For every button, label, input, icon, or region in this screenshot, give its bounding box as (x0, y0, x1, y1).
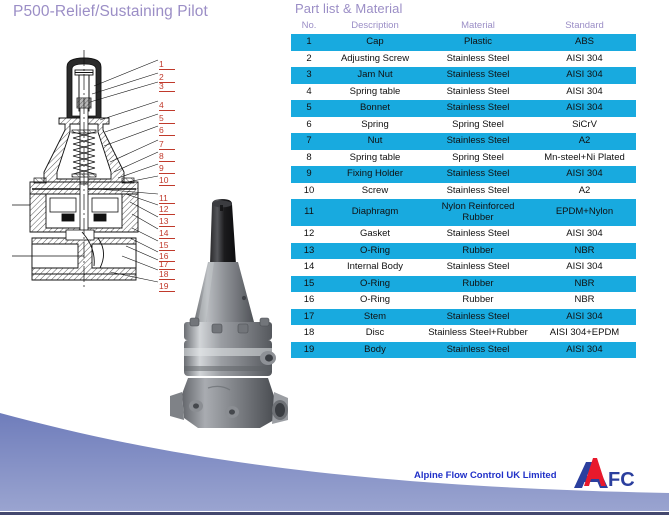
part-list-table: No. Description Material Standard 1CapPl… (291, 19, 636, 358)
part-material-cell: Stainless Steel (423, 67, 533, 84)
part-material-cell: Stainless Steel (423, 309, 533, 326)
part-standard-cell: AISI 304 (533, 342, 636, 359)
part-material-cell: Plastic (423, 34, 533, 51)
part-number-cell: 1 (291, 34, 327, 51)
table-row: 15O-RingRubberNBR (291, 276, 636, 293)
part-description-cell: O-Ring (327, 243, 423, 260)
part-description-cell: Disc (327, 325, 423, 342)
table-row: 12GasketStainless SteelAISI 304 (291, 226, 636, 243)
callout-number-10: 10 (159, 176, 175, 186)
part-number-cell: 10 (291, 183, 327, 200)
part-description-cell: Nut (327, 133, 423, 150)
part-standard-cell: AISI 304 (533, 84, 636, 101)
part-number-cell: 7 (291, 133, 327, 150)
part-description-cell: Internal Body (327, 259, 423, 276)
part-description-cell: Screw (327, 183, 423, 200)
table-row: 17StemStainless SteelAISI 304 (291, 309, 636, 326)
table-row: 4Spring tableStainless SteelAISI 304 (291, 84, 636, 101)
part-material-cell: Rubber (423, 292, 533, 309)
table-row: 11DiaphragmNylon Reinforced RubberEPDM+N… (291, 199, 636, 226)
table-row: 6SpringSpring SteelSiCrV (291, 117, 636, 134)
part-material-cell: Spring Steel (423, 117, 533, 134)
part-number-cell: 5 (291, 100, 327, 117)
part-material-cell: Stainless Steel+Rubber (423, 325, 533, 342)
part-list-body: 1CapPlasticABS2Adjusting ScrewStainless … (291, 34, 636, 358)
table-row: 19BodyStainless SteelAISI 304 (291, 342, 636, 359)
callout-number-8: 8 (159, 152, 175, 162)
column-header-standard: Standard (533, 19, 636, 34)
table-row: 9Fixing HolderStainless SteelAISI 304 (291, 166, 636, 183)
part-description-cell: Stem (327, 309, 423, 326)
table-row: 5BonnetStainless SteelAISI 304 (291, 100, 636, 117)
column-header-material: Material (423, 19, 533, 34)
part-description-cell: Adjusting Screw (327, 51, 423, 68)
table-row: 1CapPlasticABS (291, 34, 636, 51)
footer-company-name: Alpine Flow Control UK Limited (414, 470, 557, 481)
part-standard-cell: AISI 304 (533, 226, 636, 243)
pressure-relief-valve-photo (168, 196, 290, 444)
table-row: 14Internal BodyStainless SteelAISI 304 (291, 259, 636, 276)
part-standard-cell: EPDM+Nylon (533, 199, 636, 226)
part-description-cell: Bonnet (327, 100, 423, 117)
table-header-row: No. Description Material Standard (291, 19, 636, 34)
part-list-heading: Part list & Material (291, 0, 639, 19)
part-number-cell: 14 (291, 259, 327, 276)
part-standard-cell: NBR (533, 292, 636, 309)
part-standard-cell: A2 (533, 183, 636, 200)
part-material-cell: Stainless Steel (423, 259, 533, 276)
svg-text:FC: FC (608, 469, 634, 491)
part-number-cell: 2 (291, 51, 327, 68)
part-description-cell: O-Ring (327, 276, 423, 293)
part-standard-cell: ABS (533, 34, 636, 51)
part-number-cell: 6 (291, 117, 327, 134)
part-material-cell: Stainless Steel (423, 133, 533, 150)
part-material-cell: Stainless Steel (423, 51, 533, 68)
part-material-cell: Stainless Steel (423, 342, 533, 359)
part-material-cell: Stainless Steel (423, 183, 533, 200)
column-header-description: Description (327, 19, 423, 34)
part-material-cell: Rubber (423, 276, 533, 293)
part-number-cell: 16 (291, 292, 327, 309)
callout-number-7: 7 (159, 140, 175, 150)
table-row: 10ScrewStainless SteelA2 (291, 183, 636, 200)
part-standard-cell: SiCrV (533, 117, 636, 134)
part-number-cell: 11 (291, 199, 327, 226)
part-standard-cell: AISI 304 (533, 309, 636, 326)
part-material-cell: Spring Steel (423, 150, 533, 167)
part-material-cell: Nylon Reinforced Rubber (423, 199, 533, 226)
callout-number-3: 3 (159, 82, 175, 92)
callout-number-1: 1 (159, 60, 175, 70)
part-description-cell: Cap (327, 34, 423, 51)
column-header-no: No. (291, 19, 327, 34)
part-number-cell: 15 (291, 276, 327, 293)
part-number-cell: 18 (291, 325, 327, 342)
part-description-cell: Gasket (327, 226, 423, 243)
part-description-cell: Spring (327, 117, 423, 134)
part-number-cell: 3 (291, 67, 327, 84)
part-number-cell: 8 (291, 150, 327, 167)
callout-number-5: 5 (159, 114, 175, 124)
table-row: 18DiscStainless Steel+RubberAISI 304+EPD… (291, 325, 636, 342)
part-standard-cell: NBR (533, 243, 636, 260)
part-material-cell: Stainless Steel (423, 226, 533, 243)
part-number-cell: 17 (291, 309, 327, 326)
part-standard-cell: A2 (533, 133, 636, 150)
part-standard-cell: AISI 304 (533, 166, 636, 183)
part-number-cell: 13 (291, 243, 327, 260)
part-standard-cell: AISI 304+EPDM (533, 325, 636, 342)
part-description-cell: Body (327, 342, 423, 359)
wave-decoration (0, 401, 669, 511)
callout-number-4: 4 (159, 101, 175, 111)
part-material-cell: Rubber (423, 243, 533, 260)
part-list-panel: Part list & Material No. Description Mat… (291, 0, 639, 358)
table-row: 2Adjusting ScrewStainless SteelAISI 304 (291, 51, 636, 68)
valve-photo-svg (168, 196, 290, 444)
table-row: 7NutStainless SteelA2 (291, 133, 636, 150)
part-description-cell: Fixing Holder (327, 166, 423, 183)
table-row: 8Spring tableSpring SteelMn-steel+Ni Pla… (291, 150, 636, 167)
part-standard-cell: AISI 304 (533, 51, 636, 68)
table-row: 16O-RingRubberNBR (291, 292, 636, 309)
part-number-cell: 4 (291, 84, 327, 101)
part-material-cell: Stainless Steel (423, 84, 533, 101)
part-number-cell: 19 (291, 342, 327, 359)
part-standard-cell: AISI 304 (533, 100, 636, 117)
table-row: 13O-RingRubberNBR (291, 243, 636, 260)
part-description-cell: Spring table (327, 150, 423, 167)
part-material-cell: Stainless Steel (423, 100, 533, 117)
part-standard-cell: AISI 304 (533, 259, 636, 276)
part-number-cell: 9 (291, 166, 327, 183)
part-description-cell: Spring table (327, 84, 423, 101)
part-description-cell: Jam Nut (327, 67, 423, 84)
part-number-cell: 12 (291, 226, 327, 243)
part-description-cell: Diaphragm (327, 199, 423, 226)
part-material-cell: Stainless Steel (423, 166, 533, 183)
afc-logo-icon: FC (572, 456, 634, 492)
part-standard-cell: AISI 304 (533, 67, 636, 84)
table-row: 3Jam NutStainless SteelAISI 304 (291, 67, 636, 84)
callout-number-6: 6 (159, 126, 175, 136)
part-standard-cell: NBR (533, 276, 636, 293)
part-standard-cell: Mn-steel+Ni Plated (533, 150, 636, 167)
page-title: P500-Relief/Sustaining Pilot (13, 3, 208, 21)
part-description-cell: O-Ring (327, 292, 423, 309)
callout-number-9: 9 (159, 164, 175, 174)
